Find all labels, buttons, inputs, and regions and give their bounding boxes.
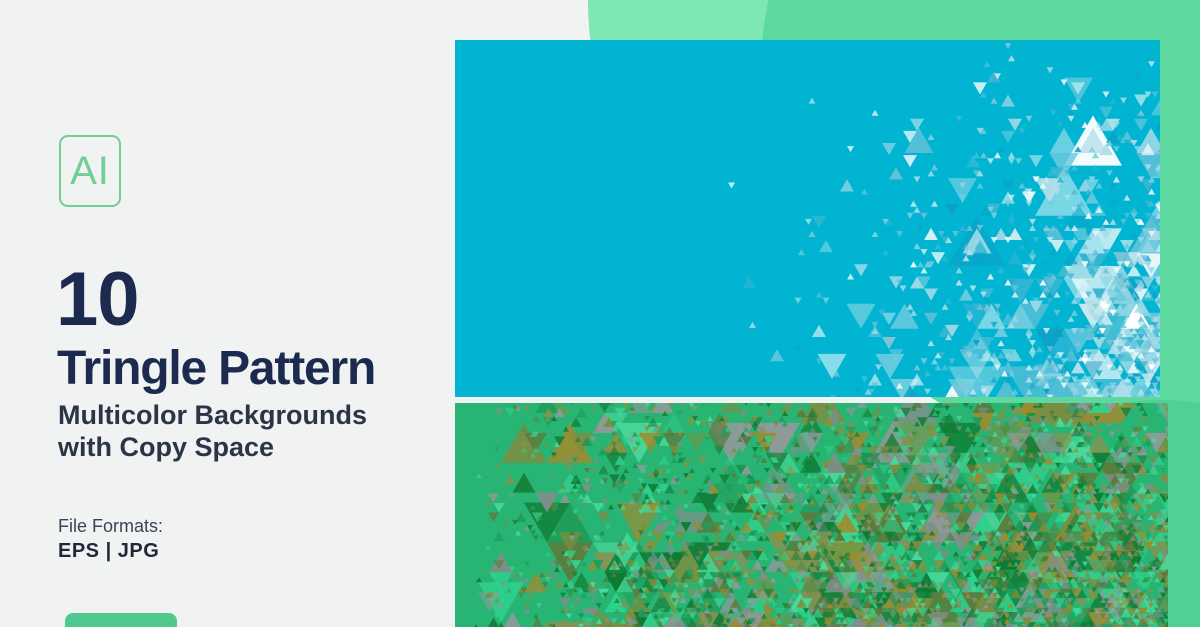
- page-subtitle: Multicolor Backgrounds with Copy Space: [58, 400, 367, 464]
- info-panel: AI 10 Tringle Pattern Multicolor Backgro…: [0, 0, 455, 627]
- blue-triangle-pattern-preview[interactable]: [455, 40, 1160, 397]
- poster-canvas: AI 10 Tringle Pattern Multicolor Backgro…: [0, 0, 1200, 627]
- blue-mosaic-graphic: [455, 40, 1160, 397]
- file-formats-value: EPS | JPG: [58, 540, 159, 563]
- subtitle-line-2: with Copy Space: [58, 432, 367, 464]
- file-formats-label: File Formats:: [58, 516, 163, 537]
- subtitle-line-1: Multicolor Backgrounds: [58, 400, 367, 432]
- cta-button[interactable]: [65, 613, 177, 627]
- page-title: Tringle Pattern: [57, 345, 375, 393]
- ai-badge-label: AI: [70, 151, 110, 191]
- item-count: 10: [56, 262, 139, 338]
- green-mosaic-graphic: [455, 403, 1168, 627]
- green-triangle-pattern-preview[interactable]: [455, 403, 1168, 627]
- ai-format-badge: AI: [59, 135, 121, 207]
